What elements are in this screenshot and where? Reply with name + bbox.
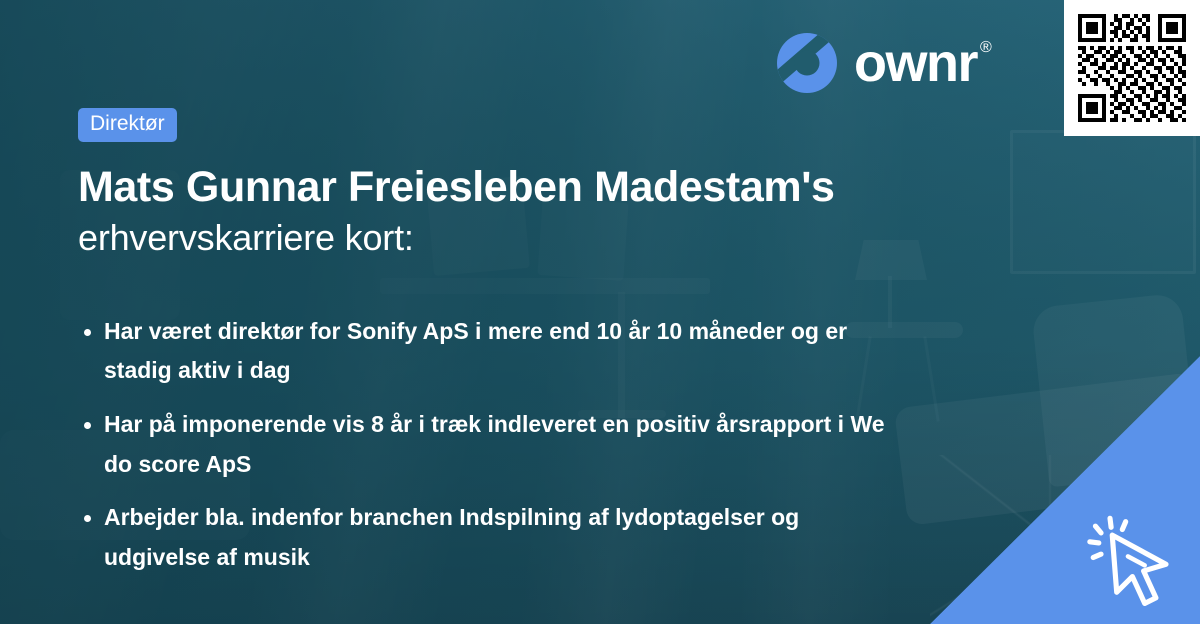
list-item: Arbejder bla. indenfor branchen Indspiln…	[78, 498, 900, 577]
click-cursor-icon	[1082, 506, 1194, 618]
role-badge: Direktør	[78, 108, 177, 142]
ownr-circle-logo-icon	[776, 32, 838, 94]
ownr-logo[interactable]: ownr ®	[776, 32, 990, 94]
career-card: ownr ® Direktør Mats Gunnar Freiesleben …	[0, 0, 1200, 624]
title-main: Mats Gunnar Freiesleben Madestam's	[78, 162, 900, 213]
registered-trademark-icon: ®	[980, 40, 990, 56]
qr-code[interactable]	[1064, 0, 1200, 136]
content-area: Direktør Mats Gunnar Freiesleben Madesta…	[78, 108, 900, 591]
career-highlights-list: Har været direktør for Sonify ApS i mere…	[78, 312, 900, 577]
list-item: Har været direktør for Sonify ApS i mere…	[78, 312, 900, 391]
page-title: Mats Gunnar Freiesleben Madestam's erhve…	[78, 162, 900, 260]
ownr-wordmark: ownr ®	[854, 36, 990, 90]
ownr-wordmark-text: ownr	[854, 36, 977, 90]
title-sub: erhvervskarriere kort:	[78, 215, 900, 260]
list-item: Har på imponerende vis 8 år i træk indle…	[78, 405, 900, 484]
qr-code-image	[1074, 10, 1190, 126]
